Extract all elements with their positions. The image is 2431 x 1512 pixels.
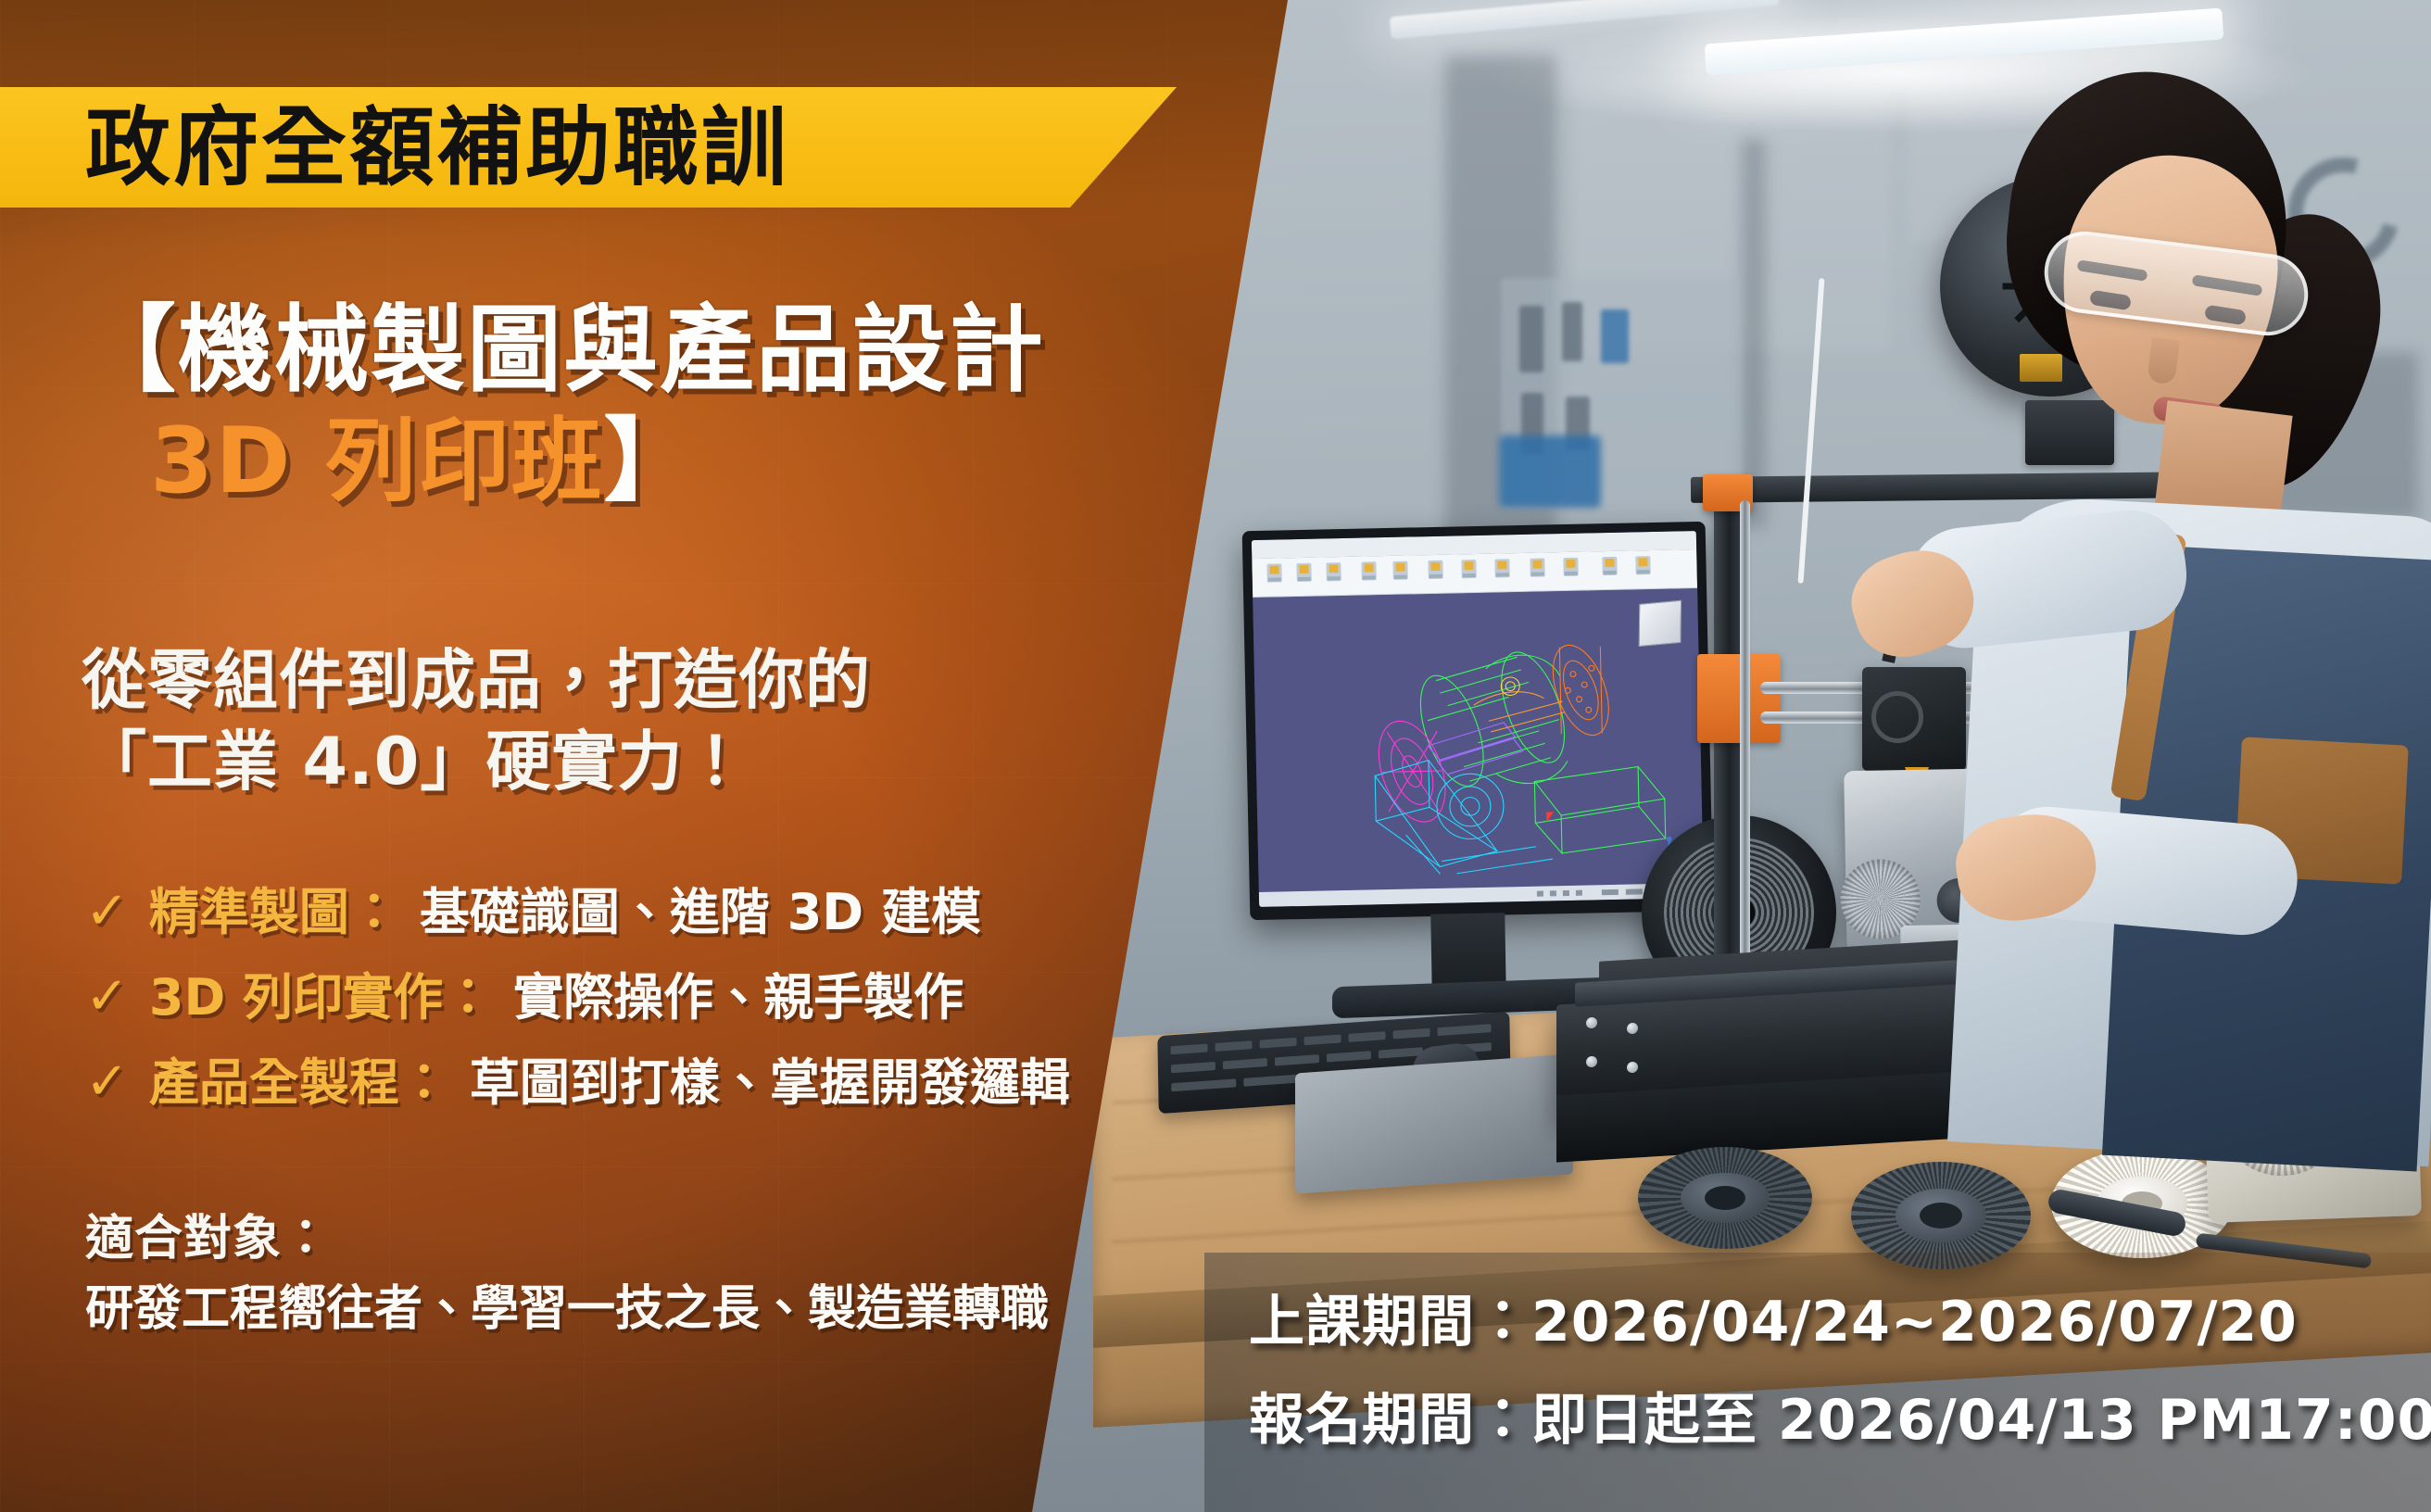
feature-label: 產品全製程：: [149, 1051, 449, 1115]
printer-z-rod-left: [1740, 500, 1750, 982]
class-period-line: 上課期間：2026/04/24~2026/07/20: [1249, 1273, 2431, 1371]
date-info: 上課期間：2026/04/24~2026/07/20 報名期間：即日起至 202…: [1249, 1273, 2431, 1469]
printer-frame-left: [1714, 491, 1742, 1010]
feature-list: ✓ 精準製圖： 基礎識圖、進階 3D 建模 ✓ 3D 列印實作： 實際操作、親手…: [85, 880, 1178, 1136]
feature-text: 實際操作、親手製作: [513, 965, 964, 1030]
cad-tool-icon: [1392, 561, 1407, 580]
printed-gear-dark-1: [1638, 1147, 1812, 1249]
cad-tool-icon: [1266, 563, 1281, 582]
target-audience-heading: 適合對象：: [85, 1204, 1178, 1273]
cad-monitor: [1242, 522, 1714, 920]
cad-tool-icon: [1563, 558, 1578, 576]
feature-text: 草圖到打樣、掌握開發邏輯: [470, 1051, 1070, 1115]
ceiling-light-secondary-icon: [1390, 0, 1779, 39]
registration-period-label: 報名期間：: [1249, 1388, 1531, 1453]
tool-icon: [1562, 302, 1582, 361]
check-icon: ✓: [85, 880, 129, 943]
storage-bin: [1499, 435, 1601, 508]
feature-item: ✓ 3D 列印實作： 實際操作、親手製作: [85, 965, 1178, 1030]
course-title-highlight: 3D 列印班: [150, 409, 604, 514]
cursor-icon: [1546, 812, 1554, 822]
class-period-value: 2026/04/24~2026/07/20: [1531, 1290, 2298, 1354]
feature-text: 基礎識圖、進階 3D 建模: [420, 880, 981, 945]
target-audience: 適合對象： 研發工程嚮往者、學習一技之長、製造業轉職: [85, 1204, 1178, 1345]
feature-item: ✓ 精準製圖： 基礎識圖、進階 3D 建模: [85, 880, 1178, 945]
cad-tool-icon: [1296, 563, 1311, 582]
course-subtitle-line2: 「工業 4.0」硬實力！: [82, 721, 1101, 802]
course-title-line1: 【機械製圖與產品設計: [82, 296, 1175, 406]
wall-post: [1742, 139, 1766, 528]
cad-tool-icon: [1494, 559, 1509, 577]
check-icon: ✓: [85, 965, 129, 1028]
spool-label: [2020, 354, 2062, 382]
printer-hotend: [1862, 667, 1966, 771]
cad-tool-icon: [1602, 557, 1617, 575]
cad-tool-icon: [1428, 561, 1442, 579]
printer-x-carriage-left: [1697, 654, 1781, 743]
feature-label: 3D 列印實作：: [149, 965, 493, 1030]
feature-label: 精準製圖：: [149, 880, 399, 945]
tool-icon: [1601, 309, 1629, 363]
check-icon: ✓: [85, 1051, 129, 1114]
cad-tool-icon: [1530, 558, 1544, 576]
cad-viewport: [1253, 588, 1704, 892]
spool-holder: [2025, 400, 2114, 465]
course-title: 【機械製圖與產品設計 3D 列印班】: [82, 296, 1175, 517]
feature-item: ✓ 產品全製程： 草圖到打樣、掌握開發邏輯: [85, 1051, 1178, 1115]
promotional-banner: 政府全額補助職訓 【機械製圖與產品設計 3D 列印班】 從零組件到成品，打造你的…: [0, 0, 2431, 1512]
target-audience-body: 研發工程嚮往者、學習一技之長、製造業轉職: [85, 1273, 1178, 1345]
cad-tool-icon: [1361, 561, 1376, 580]
view-cube-icon[interactable]: [1639, 600, 1682, 647]
tool-icon: [1519, 306, 1543, 372]
class-period-label: 上課期間：: [1249, 1290, 1531, 1354]
course-title-bracket: 】: [604, 409, 697, 514]
printer-top-rail: [1691, 472, 2210, 503]
cad-tool-icon: [1461, 560, 1476, 578]
course-subtitle-line1: 從零組件到成品，打造你的: [82, 639, 1101, 721]
cad-tool-icon: [1326, 562, 1341, 581]
subsidy-ribbon-label: 政府全額補助職訓: [85, 96, 789, 200]
registration-period-value: 即日起至 2026/04/13 PM17:00 止: [1531, 1388, 2431, 1453]
cad-wireframe-model: [1253, 588, 1704, 892]
printed-bracket-part: [1295, 1054, 1573, 1194]
course-subtitle: 從零組件到成品，打造你的 「工業 4.0」硬實力！: [82, 639, 1101, 802]
cad-tool-icon: [1635, 556, 1650, 574]
cad-screen: [1252, 531, 1704, 907]
course-title-line2: 3D 列印班】: [150, 406, 1175, 517]
registration-period-line: 報名期間：即日起至 2026/04/13 PM17:00 止: [1249, 1371, 2431, 1469]
